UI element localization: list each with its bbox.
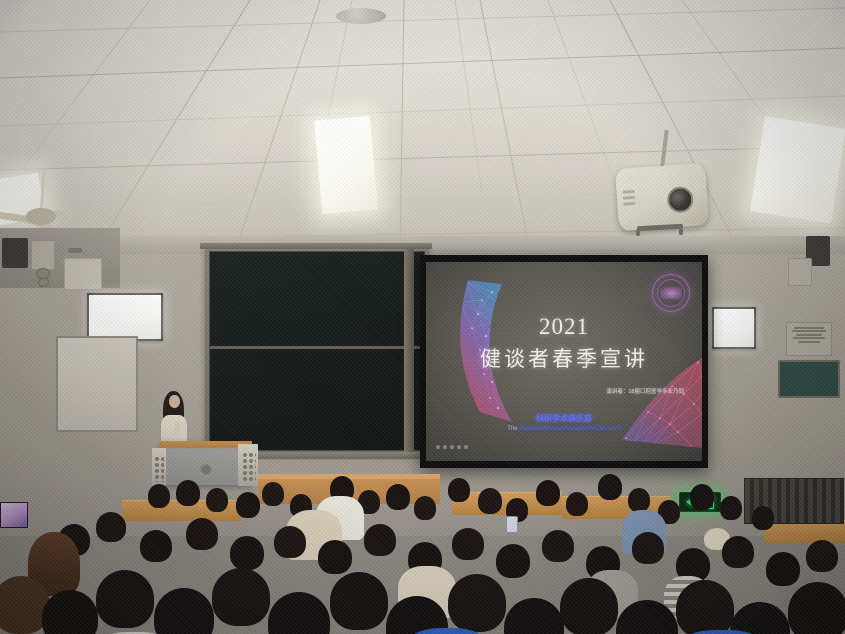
audience-head <box>140 530 172 562</box>
slide-url-suffix: .com <box>608 426 621 432</box>
seal-emblem <box>660 287 682 299</box>
whiteboard <box>56 336 138 432</box>
audience-head <box>148 484 170 508</box>
projector-foot <box>679 228 683 235</box>
projector-body <box>615 163 709 231</box>
projector-lens <box>666 186 694 214</box>
wall-bracket <box>68 248 82 253</box>
audience-head <box>364 524 396 556</box>
presentation-slide: 2021 健谈者春季宣讲 演讲者：18届口腔医学专业乃同 科研学术俱乐部 The… <box>426 262 702 461</box>
ceiling-light <box>750 116 845 224</box>
wall-panel <box>64 258 102 290</box>
lecture-hall-photo: wall notice poster <box>0 0 845 634</box>
projector-foot <box>636 229 640 236</box>
slide-dot <box>436 445 440 449</box>
wall-equipment-box <box>31 240 55 270</box>
wall-monitor-left-screen <box>89 295 161 339</box>
audience-head <box>274 526 306 558</box>
audience-head <box>806 540 838 572</box>
audience-head <box>176 480 200 506</box>
wall-monitor-right <box>712 307 756 349</box>
wall-monitor-left <box>87 293 163 341</box>
audience-head <box>42 590 98 634</box>
audience-head <box>448 574 506 632</box>
ceiling-dome-fixture <box>336 8 386 24</box>
audience-head <box>690 484 714 510</box>
presenter-arm <box>175 421 180 439</box>
audience-head <box>318 540 352 574</box>
audience-head <box>730 602 790 634</box>
slide-club-name: 科研学术俱乐部 <box>426 414 702 424</box>
audience-head <box>212 568 270 626</box>
ceiling-fan-hub <box>26 208 56 225</box>
audience-head <box>566 492 588 516</box>
projector-vent <box>623 196 635 200</box>
audience-head <box>720 496 742 520</box>
presenter-face <box>169 395 180 408</box>
projector-vent <box>623 202 635 206</box>
blackboard-top-rail <box>200 243 432 249</box>
audience-head <box>236 492 260 518</box>
audience-head <box>628 488 650 512</box>
wall-notice-poster: wall notice poster <box>786 322 832 356</box>
blackboard-panel-divider <box>210 346 424 349</box>
blackboard <box>205 247 429 455</box>
audience-head <box>478 488 502 514</box>
audience-head <box>330 572 388 630</box>
slide-dot <box>464 445 468 449</box>
audience-head <box>262 482 284 506</box>
ceiling-light <box>314 116 378 215</box>
wall-equipment-box <box>788 258 812 286</box>
audience-head <box>766 552 800 586</box>
ceiling <box>0 0 845 252</box>
slide-presenter-line: 演讲者：18届口腔医学专业乃同 <box>606 389 684 396</box>
audience-head <box>452 528 484 560</box>
wall-speaker <box>2 238 28 268</box>
slide-url-prefix: The <box>507 426 517 432</box>
wall-frame-dark <box>778 360 840 398</box>
slide-dot <box>450 445 454 449</box>
audience-head <box>96 570 154 628</box>
audience-head <box>752 506 774 530</box>
slide-year: 2021 <box>426 314 702 340</box>
projector-vent <box>622 190 634 194</box>
slide-url-text: ScientificResearchAcademicClub <box>519 426 607 432</box>
blackboard-side-rail <box>404 247 414 455</box>
audience-head <box>186 518 218 550</box>
wall-monitor-right-screen <box>714 309 754 347</box>
ceiling-tile-grid <box>0 0 845 252</box>
raised-phone <box>506 516 518 533</box>
slide-dot <box>457 445 461 449</box>
audience-head <box>788 582 845 634</box>
audience-head <box>414 496 436 520</box>
audience-head <box>496 544 530 578</box>
university-seal-icon <box>652 274 690 312</box>
slide-footer: 科研学术俱乐部 The ScientificResearchAcademicCl… <box>426 414 702 433</box>
slide-dot <box>443 445 447 449</box>
slide-main-title: 健谈者春季宣讲 <box>426 347 702 372</box>
projection-screen: 2021 健谈者春季宣讲 演讲者：18届口腔医学专业乃同 科研学术俱乐部 The… <box>420 255 708 468</box>
blackboard-surface <box>209 251 425 451</box>
audience-head <box>206 488 228 512</box>
audience-head <box>154 588 214 634</box>
speaker-cone <box>38 278 49 287</box>
audience-head <box>96 512 126 542</box>
audience-head <box>722 536 754 568</box>
audience-head <box>536 480 560 506</box>
slide-control-dots <box>436 445 468 449</box>
audience-head <box>560 578 618 634</box>
audience-head <box>230 536 264 570</box>
audience-head <box>268 592 330 634</box>
audience-head <box>448 478 470 502</box>
audience-head <box>632 532 664 564</box>
slide-club-url: The ScientificResearchAcademicClub.com <box>426 425 702 433</box>
audience <box>0 470 845 634</box>
audience-head <box>386 484 410 510</box>
audience-head <box>542 530 574 562</box>
audience-head <box>504 598 564 634</box>
audience-head <box>676 580 734 634</box>
audience-head <box>598 474 622 500</box>
